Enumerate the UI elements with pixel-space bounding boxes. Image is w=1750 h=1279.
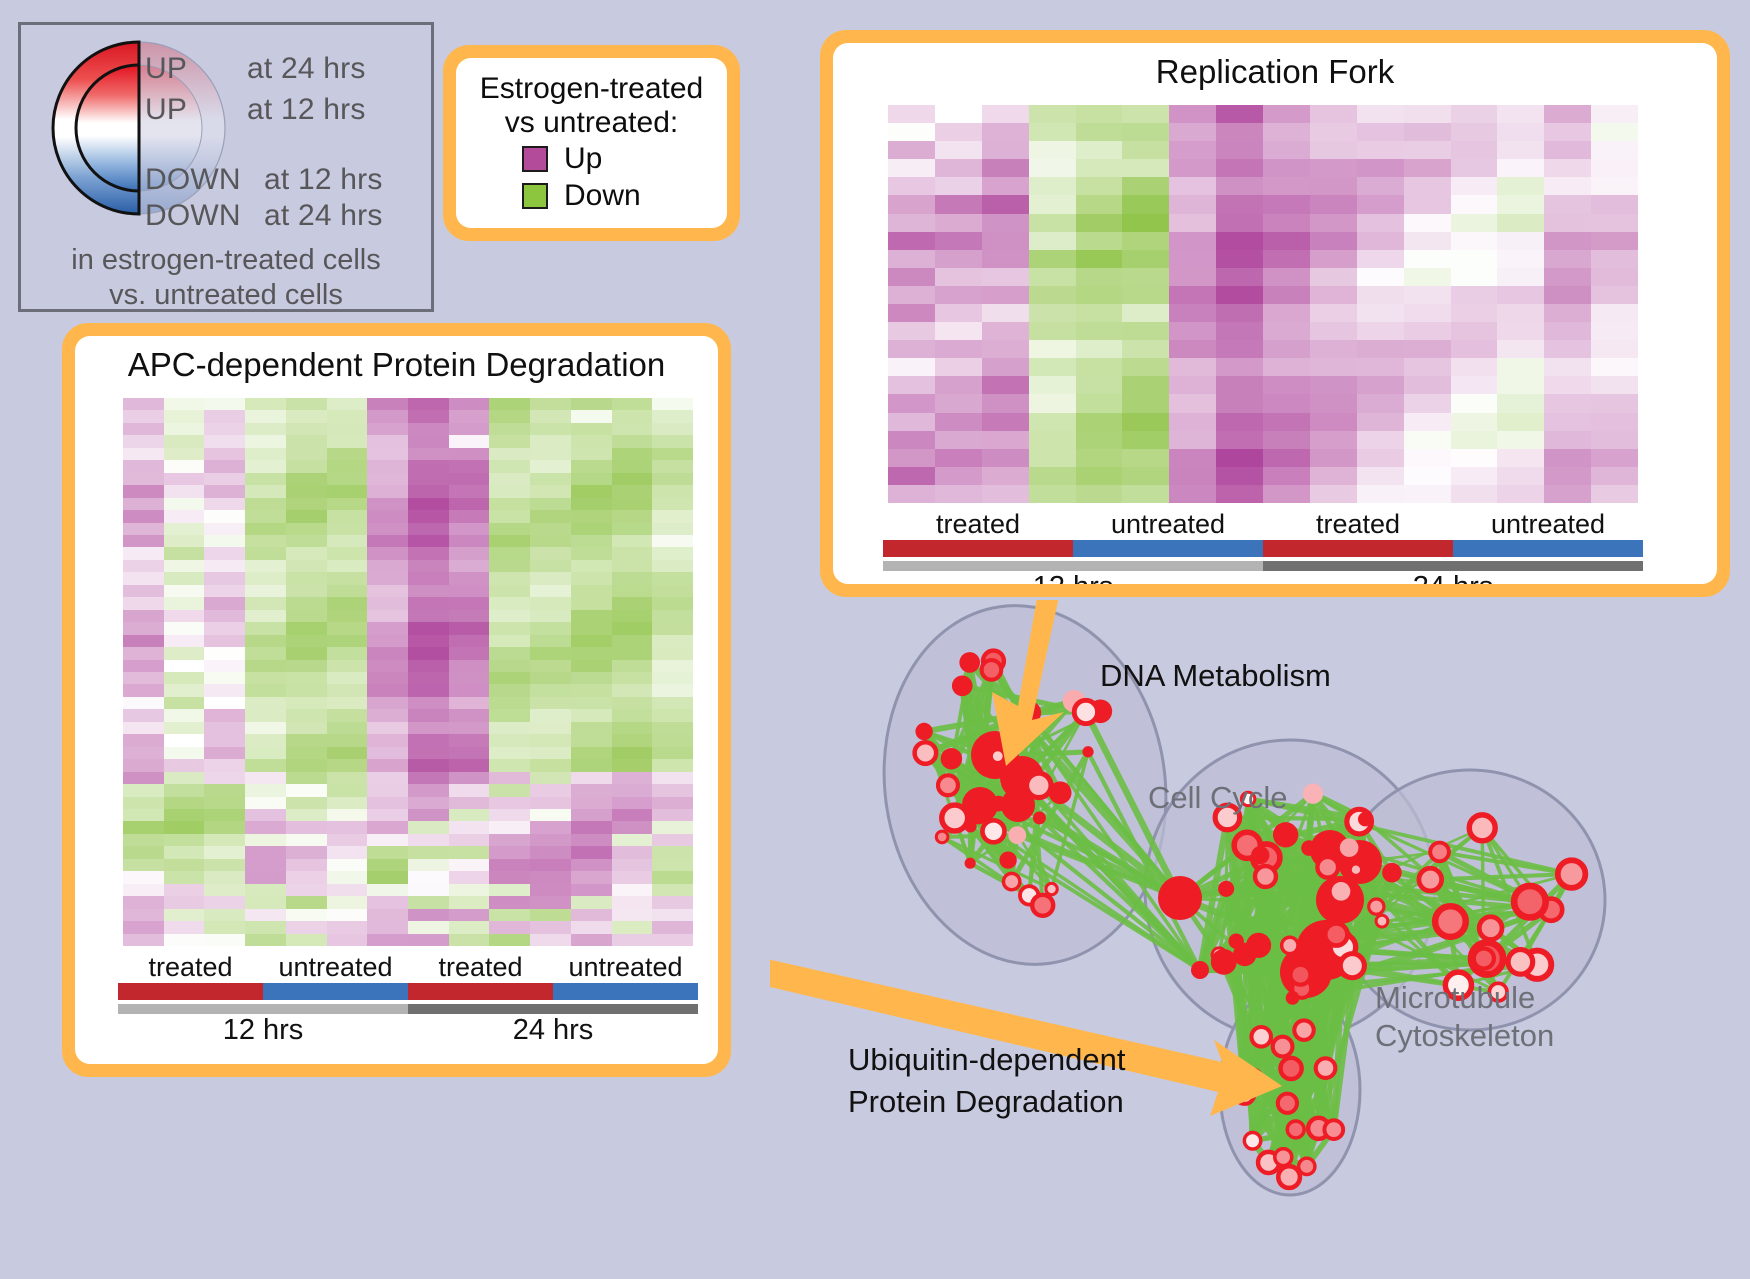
heatmap-cell	[652, 722, 693, 734]
network-node-ring[interactable]	[1282, 937, 1298, 953]
heatmap-cell	[1169, 485, 1216, 503]
heatmap-cell	[1122, 449, 1169, 467]
heatmap-cell	[286, 398, 327, 410]
heatmap-cell	[449, 435, 490, 447]
heatmap-cell	[612, 747, 653, 759]
heatmap-cell	[327, 410, 368, 422]
heatmap-cell	[530, 747, 571, 759]
heatmap-cell	[164, 784, 205, 796]
heatmap-cell	[1076, 159, 1123, 177]
heatmap-cell	[1263, 195, 1310, 213]
heatmap-cell	[1029, 105, 1076, 123]
network-node-ring[interactable]	[982, 820, 1004, 842]
heatmap-cell	[367, 934, 408, 946]
heatmap-cell	[164, 734, 205, 746]
heatmap-cell	[245, 709, 286, 721]
heatmap-cell	[1029, 394, 1076, 412]
heatmap-cell	[652, 809, 693, 821]
heatmap-cell	[286, 909, 327, 921]
network-node-ring[interactable]	[1215, 805, 1240, 830]
heatmap-cell	[571, 909, 612, 921]
up-label: Up	[564, 142, 602, 176]
network-node-ring[interactable]	[1290, 965, 1310, 985]
heatmap-cell	[327, 759, 368, 771]
heatmap-cell	[245, 635, 286, 647]
up-color-swatch	[522, 146, 548, 172]
network-node[interactable]	[1191, 961, 1209, 979]
heatmap-cell	[245, 722, 286, 734]
network-node-ring[interactable]	[1255, 866, 1276, 887]
heatmap-cell	[123, 460, 164, 472]
time-bar-segment-24-hrs	[408, 1004, 698, 1014]
network-node-ring[interactable]	[1435, 906, 1466, 937]
heatmap-cell	[612, 722, 653, 734]
heatmap-cell	[530, 448, 571, 460]
heatmap-cell	[286, 473, 327, 485]
heatmap-cell	[1357, 467, 1404, 485]
heatmap-cell	[652, 834, 693, 846]
heatmap-cell	[1357, 268, 1404, 286]
heatmap-cell	[1404, 286, 1451, 304]
network-node-ring[interactable]	[1474, 948, 1494, 968]
heatmap-cell	[286, 809, 327, 821]
heatmap-cell	[935, 413, 982, 431]
network-node[interactable]	[1218, 881, 1234, 897]
heatmap-cell	[408, 747, 449, 759]
network-node-ring[interactable]	[1369, 899, 1384, 914]
heatmap-cell	[164, 448, 205, 460]
heatmap-cell	[1169, 232, 1216, 250]
heatmap-cell	[612, 921, 653, 933]
network-node-ring[interactable]	[1278, 1094, 1297, 1113]
network-node[interactable]	[941, 748, 962, 769]
heatmap-cell	[1029, 340, 1076, 358]
network-node[interactable]	[1251, 846, 1269, 864]
condition-bar-segment-untreated	[1073, 540, 1263, 557]
network-node[interactable]	[959, 652, 980, 673]
heatmap-cell	[1263, 250, 1310, 268]
network-node-ring[interactable]	[1558, 860, 1586, 888]
heatmap-cell	[1216, 467, 1263, 485]
network-node[interactable]	[1158, 876, 1202, 920]
heatmap-cell	[286, 523, 327, 535]
network-node-ring[interactable]	[1275, 1149, 1292, 1166]
heatmap-cell	[164, 485, 205, 497]
network-node[interactable]	[1332, 882, 1351, 901]
heatmap-cell	[367, 672, 408, 684]
heatmap-cell	[652, 635, 693, 647]
heatmap-cell	[1169, 195, 1216, 213]
heatmap-cell	[888, 431, 935, 449]
network-node-ring[interactable]	[1287, 1121, 1304, 1138]
network-node[interactable]	[1358, 812, 1372, 826]
heatmap-cell	[286, 410, 327, 422]
heatmap-cell	[164, 560, 205, 572]
heatmap-cell	[204, 435, 245, 447]
network-node-ring[interactable]	[1317, 857, 1338, 878]
network-node-ring[interactable]	[1074, 700, 1097, 723]
heatmap-cell	[1404, 177, 1451, 195]
heatmap-cell	[286, 884, 327, 896]
network-node-ring[interactable]	[1046, 883, 1057, 894]
heatmap-cell	[286, 423, 327, 435]
heatmap-cell	[449, 647, 490, 659]
heatmap-cell	[367, 909, 408, 921]
heatmap-cell	[245, 448, 286, 460]
heatmap-cell	[571, 485, 612, 497]
heatmap-cell	[652, 896, 693, 908]
network-node[interactable]	[1008, 826, 1026, 844]
network-node[interactable]	[1303, 783, 1323, 803]
heatmap-cell	[245, 747, 286, 759]
heatmap-cell	[449, 896, 490, 908]
apc-time-labels: 12 hrs 24 hrs	[118, 1014, 698, 1047]
network-node-ring[interactable]	[1032, 895, 1053, 916]
heatmap-cell	[408, 759, 449, 771]
network-node[interactable]	[1211, 949, 1237, 975]
heatmap-cell	[1451, 232, 1498, 250]
network-node-ring[interactable]	[1003, 873, 1019, 889]
heatmap-cell	[367, 684, 408, 696]
heatmap-cell	[1029, 286, 1076, 304]
heatmap-cell	[652, 884, 693, 896]
heatmap-cell	[489, 660, 530, 672]
heatmap-cell	[327, 709, 368, 721]
heatmap-cell	[652, 772, 693, 784]
network-node-ring[interactable]	[1325, 923, 1347, 945]
key-legend-item-up: Up	[522, 142, 709, 176]
heatmap-cell	[530, 734, 571, 746]
heatmap-cell	[327, 647, 368, 659]
network-node-ring[interactable]	[1508, 950, 1533, 975]
heatmap-cell	[286, 660, 327, 672]
network-node[interactable]	[1286, 991, 1300, 1005]
network-node[interactable]	[1340, 838, 1359, 857]
heatmap-cell	[449, 909, 490, 921]
heatmap-cell	[164, 410, 205, 422]
heatmap-cell	[1029, 268, 1076, 286]
network-node[interactable]	[991, 796, 1007, 812]
network-node-ring[interactable]	[938, 775, 958, 795]
heatmap-cell	[571, 597, 612, 609]
network-node-ring[interactable]	[1244, 1133, 1260, 1149]
heatmap-cell	[489, 884, 530, 896]
network-node-ring[interactable]	[1324, 1120, 1343, 1139]
network-node-ring[interactable]	[936, 831, 948, 843]
network-node-ring[interactable]	[1294, 1020, 1313, 1039]
heatmap-cell	[408, 684, 449, 696]
heatmap-cell	[1544, 431, 1591, 449]
heatmap-cell	[123, 410, 164, 422]
heatmap-cell	[1076, 431, 1123, 449]
network-node-ring[interactable]	[1469, 815, 1495, 841]
heatmap-cell	[489, 398, 530, 410]
network-node[interactable]	[1301, 840, 1317, 856]
heatmap-cell	[408, 697, 449, 709]
network-node[interactable]	[1033, 812, 1046, 825]
heatmap-cell	[1497, 105, 1544, 123]
heatmap-cell	[327, 934, 368, 946]
heatmap-cell	[652, 697, 693, 709]
heatmap-cell	[489, 510, 530, 522]
heatmap-cell	[408, 734, 449, 746]
network-node-ring[interactable]	[1376, 915, 1388, 927]
heatmap-cell	[1310, 467, 1357, 485]
network-node[interactable]	[915, 723, 932, 740]
heatmap-cell	[652, 485, 693, 497]
heatmap-cell	[571, 821, 612, 833]
heatmap-cell	[245, 622, 286, 634]
heatmap-cell	[123, 498, 164, 510]
heatmap-cell	[1122, 340, 1169, 358]
network-node-ring[interactable]	[1251, 1027, 1271, 1047]
heatmap-cell	[408, 423, 449, 435]
heatmap-cell	[530, 523, 571, 535]
heatmap-cell	[286, 734, 327, 746]
heatmap-cell	[982, 195, 1029, 213]
heatmap-cell	[935, 376, 982, 394]
heatmap-cell	[1497, 376, 1544, 394]
heatmap-cell	[204, 934, 245, 946]
heatmap-cell	[1216, 250, 1263, 268]
heatmap-cell	[408, 871, 449, 883]
network-node-ring[interactable]	[915, 742, 937, 764]
heatmap-cell	[123, 909, 164, 921]
heatmap-cell	[245, 871, 286, 883]
heatmap-cell	[408, 834, 449, 846]
heatmap-cell	[1263, 105, 1310, 123]
heatmap-cell	[1591, 322, 1638, 340]
heatmap-cell	[1497, 250, 1544, 268]
network-node-ring[interactable]	[982, 660, 1002, 680]
replication-fork-time-bar	[883, 561, 1643, 571]
network-node[interactable]	[999, 851, 1016, 868]
heatmap-cell	[888, 413, 935, 431]
heatmap-cell	[1591, 304, 1638, 322]
heatmap-cell	[367, 772, 408, 784]
heatmap-cell	[408, 622, 449, 634]
heatmap-cell	[1544, 340, 1591, 358]
network-node-ring[interactable]	[1419, 868, 1442, 891]
network-node-ring[interactable]	[1340, 954, 1364, 978]
heatmap-cell	[204, 560, 245, 572]
heatmap-cell	[489, 473, 530, 485]
condition-label: untreated	[263, 952, 408, 983]
heatmap-cell	[1216, 449, 1263, 467]
network-node[interactable]	[1082, 746, 1093, 757]
heatmap-cell	[530, 622, 571, 634]
heatmap-cell	[612, 846, 653, 858]
heatmap-cell	[888, 322, 935, 340]
heatmap-cell	[1310, 159, 1357, 177]
heatmap-cell	[1216, 413, 1263, 431]
heatmap-cell	[888, 159, 935, 177]
heatmap-cell	[164, 697, 205, 709]
network-node-ring[interactable]	[1445, 972, 1471, 998]
heatmap-cell	[489, 809, 530, 821]
network-node[interactable]	[1228, 933, 1243, 948]
network-node[interactable]	[952, 676, 973, 697]
updown-key-panel: Estrogen-treated vs untreated: Up Down	[443, 45, 740, 241]
heatmap-cell	[204, 871, 245, 883]
replication-fork-title: Replication Fork	[833, 43, 1717, 91]
heatmap-cell	[1357, 413, 1404, 431]
heatmap-cell	[408, 485, 449, 497]
heatmap-cell	[1544, 214, 1591, 232]
network-node[interactable]	[968, 804, 988, 824]
heatmap-cell	[367, 859, 408, 871]
heatmap-cell	[327, 448, 368, 460]
heatmap-cell	[1076, 376, 1123, 394]
heatmap-cell	[286, 647, 327, 659]
colorwheel-legend-box: UP at 24 hrs UP at 12 hrs DOWN at 12 hrs…	[18, 22, 434, 312]
condition-bar-segment-treated	[118, 983, 263, 1000]
heatmap-cell	[1357, 105, 1404, 123]
heatmap-cell	[1310, 322, 1357, 340]
heatmap-cell	[982, 105, 1029, 123]
time-label: 12 hrs	[883, 571, 1263, 584]
heatmap-cell	[489, 934, 530, 946]
network-node-ring[interactable]	[1280, 1058, 1301, 1079]
heatmap-cell	[408, 921, 449, 933]
heatmap-cell	[489, 547, 530, 559]
heatmap-cell	[204, 821, 245, 833]
heatmap-cell	[489, 485, 530, 497]
network-node-ring[interactable]	[1273, 1037, 1293, 1057]
heatmap-cell	[1591, 177, 1638, 195]
heatmap-cell	[1404, 413, 1451, 431]
heatmap-cell	[1497, 449, 1544, 467]
heatmap-cell	[245, 797, 286, 809]
heatmap-cell	[530, 784, 571, 796]
heatmap-cell	[1451, 358, 1498, 376]
heatmap-cell	[1497, 358, 1544, 376]
heatmap-cell	[164, 647, 205, 659]
heatmap-cell	[408, 797, 449, 809]
network-node-ring[interactable]	[1479, 917, 1502, 940]
heatmap-cell	[1310, 431, 1357, 449]
heatmap-cell	[286, 784, 327, 796]
heatmap-cell	[1544, 105, 1591, 123]
heatmap-cell	[1404, 322, 1451, 340]
heatmap-cell	[164, 423, 205, 435]
heatmap-cell	[612, 934, 653, 946]
heatmap-cell	[530, 473, 571, 485]
heatmap-cell	[1404, 105, 1451, 123]
heatmap-cell	[935, 105, 982, 123]
heatmap-cell	[123, 660, 164, 672]
apc-degradation-heatmap	[123, 398, 693, 946]
heatmap-cell	[1451, 141, 1498, 159]
heatmap-cell	[286, 460, 327, 472]
heatmap-cell	[612, 448, 653, 460]
heatmap-cell	[286, 597, 327, 609]
network-node-ring[interactable]	[1241, 792, 1254, 805]
heatmap-cell	[327, 697, 368, 709]
heatmap-cell	[489, 747, 530, 759]
network-node-ring[interactable]	[1027, 773, 1051, 797]
heatmap-cell	[489, 909, 530, 921]
heatmap-cell	[1357, 141, 1404, 159]
heatmap-cell	[1497, 394, 1544, 412]
heatmap-cell	[571, 934, 612, 946]
heatmap-cell	[1451, 159, 1498, 177]
heatmap-cell	[367, 547, 408, 559]
heatmap-cell	[888, 105, 935, 123]
heatmap-cell	[1122, 232, 1169, 250]
heatmap-cell	[888, 304, 935, 322]
heatmap-cell	[286, 821, 327, 833]
heatmap-cell	[1357, 304, 1404, 322]
heatmap-cell	[1591, 105, 1638, 123]
network-node[interactable]	[965, 858, 976, 869]
heatmap-cell	[1263, 431, 1310, 449]
heatmap-cell	[204, 473, 245, 485]
heatmap-cell	[204, 909, 245, 921]
network-node-ring[interactable]	[1350, 864, 1361, 875]
network-node-ring[interactable]	[1514, 886, 1546, 918]
heatmap-cell	[612, 597, 653, 609]
figure-canvas: UP at 24 hrs UP at 12 hrs DOWN at 12 hrs…	[0, 0, 1750, 1279]
network-node-ring[interactable]	[1278, 1166, 1300, 1188]
heatmap-cell	[449, 622, 490, 634]
heatmap-cell	[982, 340, 1029, 358]
network-node-ring[interactable]	[1316, 1058, 1336, 1078]
heatmap-cell	[1497, 232, 1544, 250]
heatmap-cell	[204, 498, 245, 510]
heatmap-cell	[1122, 394, 1169, 412]
heatmap-cell	[1076, 286, 1123, 304]
heatmap-cell	[1076, 413, 1123, 431]
heatmap-cell	[1122, 214, 1169, 232]
network-node[interactable]	[1248, 933, 1265, 950]
network-node[interactable]	[1382, 863, 1402, 883]
wheel-ring-time-1: at 12 hrs	[247, 93, 366, 127]
heatmap-cell	[204, 784, 245, 796]
heatmap-cell	[489, 622, 530, 634]
network-node-ring[interactable]	[1430, 843, 1449, 862]
heatmap-cell	[1591, 250, 1638, 268]
heatmap-cell	[204, 572, 245, 584]
network-node-ring[interactable]	[991, 750, 1004, 763]
heatmap-cell	[327, 485, 368, 497]
heatmap-cell	[204, 610, 245, 622]
heatmap-cell	[123, 535, 164, 547]
heatmap-cell	[652, 547, 693, 559]
heatmap-cell	[1216, 123, 1263, 141]
heatmap-cell	[652, 784, 693, 796]
network-node[interactable]	[1273, 822, 1298, 847]
heatmap-cell	[408, 498, 449, 510]
heatmap-cell	[1544, 413, 1591, 431]
heatmap-cell	[530, 709, 571, 721]
heatmap-cell	[612, 672, 653, 684]
heatmap-cell	[888, 141, 935, 159]
heatmap-cell	[408, 523, 449, 535]
heatmap-cell	[1029, 358, 1076, 376]
heatmap-cell	[652, 410, 693, 422]
network-node-ring[interactable]	[1489, 983, 1507, 1001]
heatmap-cell	[367, 535, 408, 547]
heatmap-cell	[1029, 250, 1076, 268]
heatmap-cell	[286, 772, 327, 784]
heatmap-cell	[204, 846, 245, 858]
heatmap-cell	[982, 358, 1029, 376]
heatmap-cell	[1451, 413, 1498, 431]
heatmap-cell	[982, 449, 1029, 467]
heatmap-cell	[982, 394, 1029, 412]
heatmap-cell	[530, 435, 571, 447]
